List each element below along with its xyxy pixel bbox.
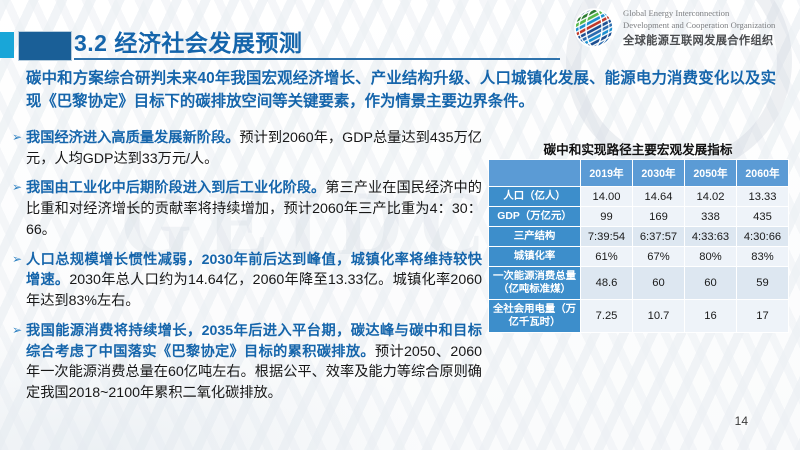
- bullet-text: 人口总规模增长惯性减弱，2030年前后达到峰值，城镇化率将维持较快增速。2030…: [26, 250, 482, 312]
- row-label-primary-energy-consumption: 一次能源消费总量（亿吨标准煤）: [489, 267, 581, 300]
- cell-industry-2060: 4:30:66: [737, 227, 789, 247]
- cell-energy-2060: 59: [737, 267, 789, 300]
- logo-text-block: Global Energy Interconnection Developmen…: [623, 8, 775, 48]
- row-label-industry-structure: 三产结构: [489, 227, 581, 247]
- list-item: ➢ 我国能源消费将持续增长，2035年后进入平台期，碳达峰与碳中和目标综合考虑了…: [12, 321, 482, 404]
- bullet-text: 我国由工业化中后期阶段进入到后工业化阶段。第三产业在国民经济中的比重和对经济增长…: [26, 178, 482, 240]
- cell-electricity-2060: 17: [737, 300, 789, 333]
- bullet-list: ➢ 我国经济进入高质量发展新阶段。预计到2060年，GDP总量达到435万亿元，…: [12, 128, 482, 413]
- cell-energy-2050: 60: [685, 267, 737, 300]
- logo-text-cn: 全球能源互联网发展合作组织: [623, 32, 775, 48]
- cell-electricity-2019: 7.25: [581, 300, 633, 333]
- cell-electricity-2030: 10.7: [633, 300, 685, 333]
- lead-paragraph: 碳中和方案综合研判未来40年我国宏观经济增长、产业结构升级、人口城镇化发展、能源…: [26, 68, 776, 114]
- cell-gdp-2030: 169: [633, 207, 685, 227]
- slide-header: 3.2 经济社会发展预测: [0, 0, 800, 62]
- cell-industry-2050: 4:33:63: [685, 227, 737, 247]
- logo-text-en-line1: Global Energy Interconnection: [623, 8, 775, 20]
- table-corner-cell: [489, 160, 581, 187]
- column-header-2060: 2060年: [737, 160, 789, 187]
- cell-urbanization-2030: 67%: [633, 247, 685, 267]
- header-accent-dark-bar: [18, 31, 72, 61]
- cell-population-2050: 14.02: [685, 187, 737, 207]
- cell-urbanization-2050: 80%: [685, 247, 737, 267]
- bullet-text: 我国经济进入高质量发展新阶段。预计到2060年，GDP总量达到435万亿元，人均…: [26, 128, 482, 169]
- logo-text-en-line2: Development and Cooperation Organization: [623, 20, 775, 32]
- table-row: GDP（万亿元） 99 169 338 435: [489, 207, 789, 227]
- column-header-2019: 2019年: [581, 160, 633, 187]
- page-number: 14: [735, 414, 748, 428]
- row-label-population: 人口（亿人）: [489, 187, 581, 207]
- table-row: 一次能源消费总量（亿吨标准煤） 48.6 60 60 59: [489, 267, 789, 300]
- column-header-2030: 2030年: [633, 160, 685, 187]
- bullet-arrow-icon: ➢: [12, 178, 26, 197]
- organization-logo: Global Energy Interconnection Developmen…: [572, 6, 775, 50]
- header-accent-light-bar: [0, 32, 14, 58]
- cell-urbanization-2019: 61%: [581, 247, 633, 267]
- bullet-arrow-icon: ➢: [12, 128, 26, 147]
- table-row: 城镇化率 61% 67% 80% 83%: [489, 247, 789, 267]
- bullet-arrow-icon: ➢: [12, 250, 26, 269]
- cell-population-2030: 14.64: [633, 187, 685, 207]
- macro-indicators-table-wrapper: 2019年 2030年 2050年 2060年 人口（亿人） 14.00 14.…: [488, 159, 788, 333]
- table-row: 三产结构 7:39:54 6:37:57 4:33:63 4:30:66: [489, 227, 789, 247]
- cell-energy-2019: 48.6: [581, 267, 633, 300]
- cell-gdp-2060: 435: [737, 207, 789, 227]
- bullet-text: 我国能源消费将持续增长，2035年后进入平台期，碳达峰与碳中和目标综合考虑了中国…: [26, 321, 482, 404]
- bullet-highlight: 我国经济进入高质量发展新阶段。: [26, 130, 239, 146]
- cell-gdp-2019: 99: [581, 207, 633, 227]
- column-header-2050: 2050年: [685, 160, 737, 187]
- table-header-row: 2019年 2030年 2050年 2060年: [489, 160, 789, 187]
- cell-population-2019: 14.00: [581, 187, 633, 207]
- row-label-electricity-consumption: 全社会用电量（万亿千瓦时）: [489, 300, 581, 333]
- row-label-urbanization-rate: 城镇化率: [489, 247, 581, 267]
- slide-root: GEIDCO 3.2 经济社会发展预测: [0, 0, 800, 450]
- cell-electricity-2050: 16: [685, 300, 737, 333]
- list-item: ➢ 我国经济进入高质量发展新阶段。预计到2060年，GDP总量达到435万亿元，…: [12, 128, 482, 169]
- page-title: 3.2 经济社会发展预测: [74, 24, 302, 58]
- macro-indicators-table: 2019年 2030年 2050年 2060年 人口（亿人） 14.00 14.…: [488, 159, 789, 333]
- table-row: 人口（亿人） 14.00 14.64 14.02 13.33: [489, 187, 789, 207]
- bullet-highlight: 我国由工业化中后期阶段进入到后工业化阶段。: [26, 180, 325, 196]
- bullet-arrow-icon: ➢: [12, 321, 26, 340]
- table-caption: 碳中和实现路径主要宏观发展指标: [488, 139, 788, 158]
- list-item: ➢ 我国由工业化中后期阶段进入到后工业化阶段。第三产业在国民经济中的比重和对经济…: [12, 178, 482, 240]
- cell-population-2060: 13.33: [737, 187, 789, 207]
- cell-energy-2030: 60: [633, 267, 685, 300]
- cell-urbanization-2060: 83%: [737, 247, 789, 267]
- cell-industry-2019: 7:39:54: [581, 227, 633, 247]
- title-underline-rule: [74, 58, 560, 60]
- table-row: 全社会用电量（万亿千瓦时） 7.25 10.7 16 17: [489, 300, 789, 333]
- list-item: ➢ 人口总规模增长惯性减弱，2030年前后达到峰值，城镇化率将维持较快增速。20…: [12, 250, 482, 312]
- bullet-rest: 2030年总人口约为14.64亿，2060年降至13.33亿。城镇化率2060年…: [26, 272, 482, 309]
- cell-industry-2030: 6:37:57: [633, 227, 685, 247]
- gei-globe-logo-icon: [572, 6, 616, 50]
- cell-gdp-2050: 338: [685, 207, 737, 227]
- row-label-gdp: GDP（万亿元）: [489, 207, 581, 227]
